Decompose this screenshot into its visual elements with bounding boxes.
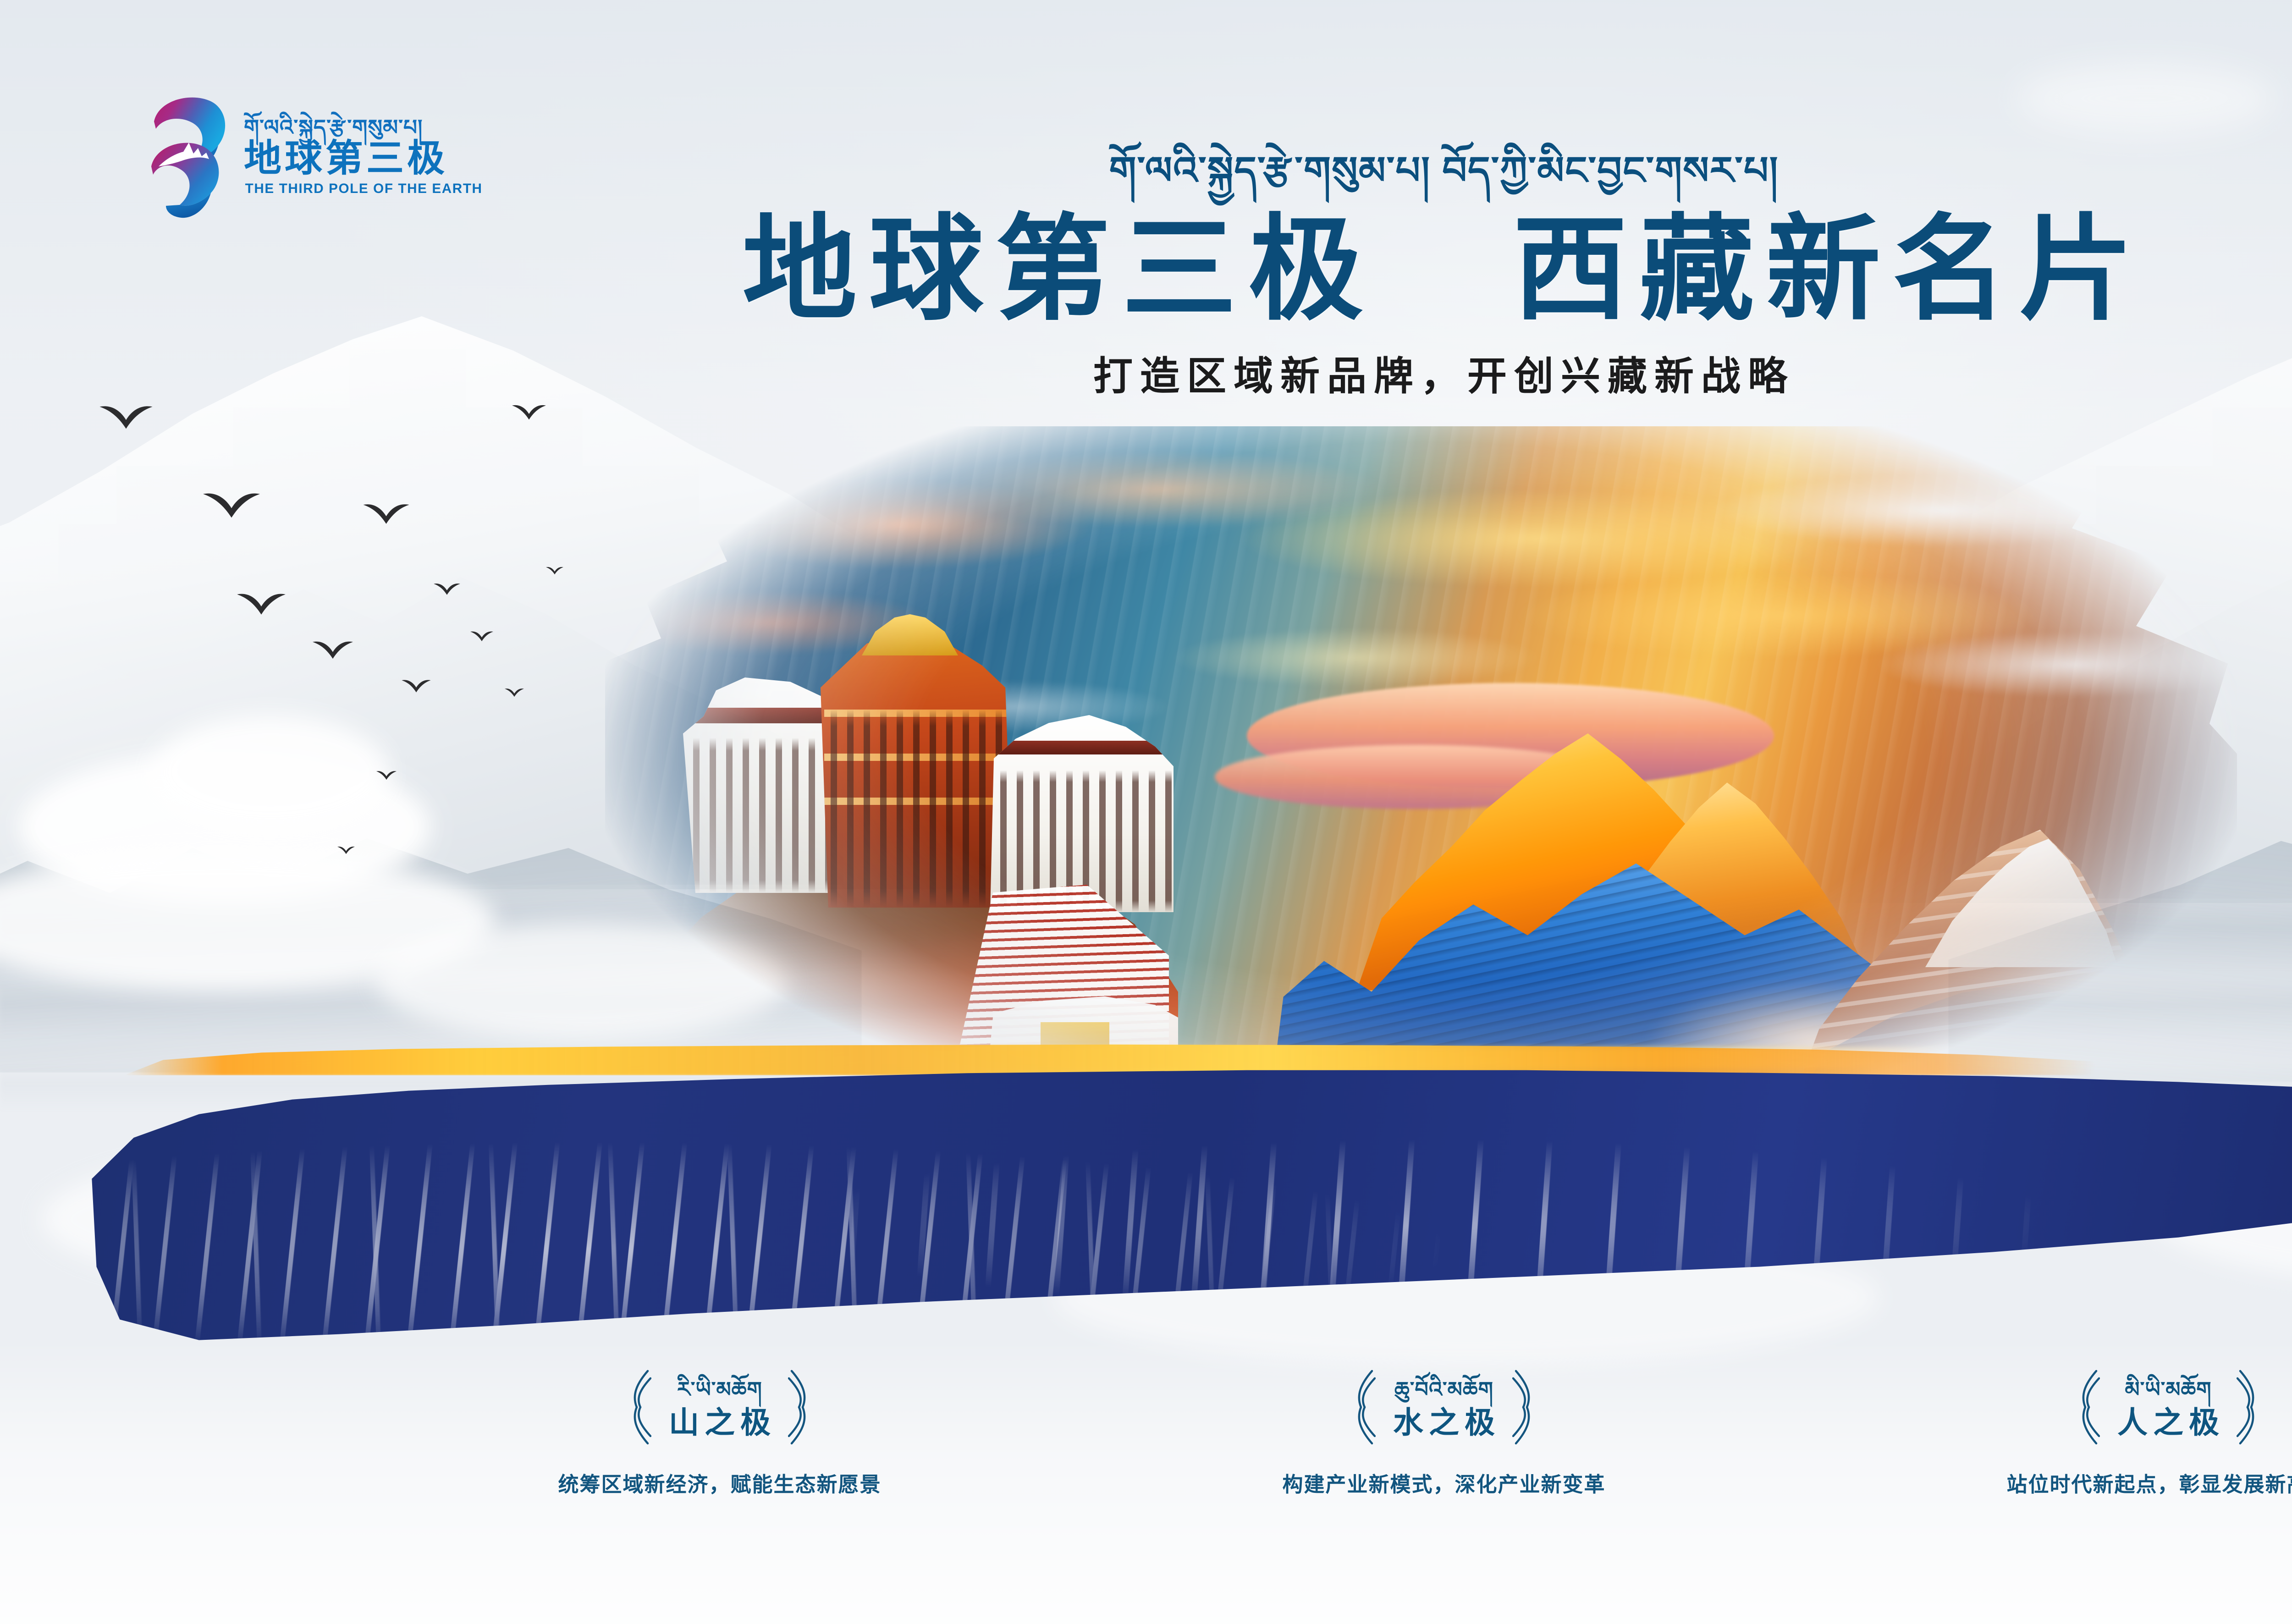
pillar-labels: མི་ཡི་མཆོག 人之极 <box>2112 1378 2225 1439</box>
title-part-right: 西藏新名片 <box>1513 205 2145 333</box>
flying-bird-icon <box>312 639 354 660</box>
title-part-left: 地球第三极 <box>743 205 1375 333</box>
brand-logo[interactable]: གོ་ལའི་སྐྱེད་རྩེ་གསུམ་པ། 地球第三极 THE THIRD… <box>138 89 484 222</box>
flying-bird-icon <box>511 403 547 420</box>
pillar-description: 站位时代新起点，彰显发展新高度 <box>1898 1471 2292 1498</box>
flying-bird-icon <box>470 630 494 642</box>
cloud <box>151 715 390 830</box>
pillar-chinese: 人之极 <box>2112 1406 2225 1439</box>
pillar-chinese: 山之极 <box>663 1406 776 1439</box>
decorative-bracket-right-icon <box>1512 1368 1540 1448</box>
pillar-labels: ཆུ་བོའི་མཆོག 水之极 <box>1388 1378 1500 1439</box>
pillar-labels: རི་ཡི་མཆོག 山之极 <box>663 1378 776 1439</box>
pillar-mountain[interactable]: རི་ཡི་མཆོག 山之极 统筹区域新经济，赋能生态新愿景 <box>449 1368 990 1498</box>
cloud <box>1054 1228 1879 1366</box>
flying-bird-icon <box>236 591 286 616</box>
logo-english: THE THIRD POLE OF THE EARTH <box>245 182 483 196</box>
decorative-bracket-right-icon <box>2237 1368 2264 1448</box>
palace-windows <box>990 715 1174 912</box>
flying-bird-icon <box>202 490 261 519</box>
decorative-bracket-left-icon <box>2072 1368 2100 1448</box>
pillar-water[interactable]: ཆུ་བོའི་མཆོག 水之极 构建产业新模式，深化产业新变革 <box>1174 1368 1714 1498</box>
flying-bird-icon <box>337 846 355 854</box>
cloud <box>2017 64 2274 133</box>
decorative-bracket-right-icon <box>788 1368 815 1448</box>
cloud <box>41 1146 683 1293</box>
poster-canvas: གོ་ལའི་སྐྱེད་རྩེ་གསུམ་པ། 地球第三极 THE THIRD… <box>0 0 2292 1624</box>
decorative-bracket-left-icon <box>624 1368 651 1448</box>
hero-photo-collage <box>605 426 2237 1128</box>
logo-tibetan: གོ་ལའི་སྐྱེད་རྩེ་གསུམ་པ། <box>244 116 423 138</box>
flying-bird-icon <box>362 502 410 525</box>
cloud <box>0 853 495 990</box>
page-title: 地球第三极 西藏新名片 <box>0 209 2292 330</box>
logo-wordmark: གོ་ལའི་སྐྱེད་རྩེ་གསུམ་པ། 地球第三极 THE THIRD… <box>244 116 484 196</box>
palace-white-wing-right <box>990 715 1174 912</box>
pillar-tibetan: མི་ཡི་མཆོག <box>2125 1378 2211 1401</box>
flying-bird-icon <box>504 688 524 697</box>
flying-bird-icon <box>376 770 397 780</box>
pillars-row: རི་ཡི་མཆོག 山之极 统筹区域新经济，赋能生态新愿景 <box>0 1368 2292 1498</box>
mount-kailash-photo <box>1788 830 2182 1114</box>
pillar-chinese: 水之极 <box>1388 1406 1500 1439</box>
pillar-header: མི་ཡི་མཆོག 人之极 <box>1898 1368 2292 1448</box>
pillar-tibetan: རི་ཡི་མཆོག <box>677 1378 762 1401</box>
decorative-bracket-left-icon <box>1348 1368 1376 1448</box>
palace-red-palace <box>821 633 1013 908</box>
pillar-description: 统筹区域新经济，赋能生态新愿景 <box>449 1471 990 1498</box>
pillar-people[interactable]: མི་ཡི་མཆོག 人之极 站位时代新起点，彰显发展新高度 <box>1898 1368 2292 1498</box>
flying-bird-icon <box>401 678 431 693</box>
pillar-tibetan: ཆུ་བོའི་མཆོག <box>1394 1378 1493 1401</box>
page-subtitle: 打造区域新品牌，开创兴藏新战略 <box>0 353 2292 400</box>
pillar-header: རི་ཡི་མཆོག 山之极 <box>449 1368 990 1448</box>
cloud <box>2145 1137 2292 1288</box>
flying-bird-icon <box>99 403 154 430</box>
palace-windows <box>821 633 1013 908</box>
pillar-description: 构建产业新模式，深化产业新变革 <box>1174 1471 1714 1498</box>
flying-bird-icon <box>545 566 564 575</box>
horizon-glow <box>605 1048 2237 1069</box>
flying-bird-icon <box>433 582 461 595</box>
cloud <box>18 752 431 903</box>
pillar-header: ཆུ་བོའི་མཆོག 水之极 <box>1174 1368 1714 1448</box>
ribbon-mountain-logo-icon <box>138 89 234 222</box>
palace-golden-roof <box>862 614 958 655</box>
logo-chinese: 地球第三极 <box>244 139 448 178</box>
